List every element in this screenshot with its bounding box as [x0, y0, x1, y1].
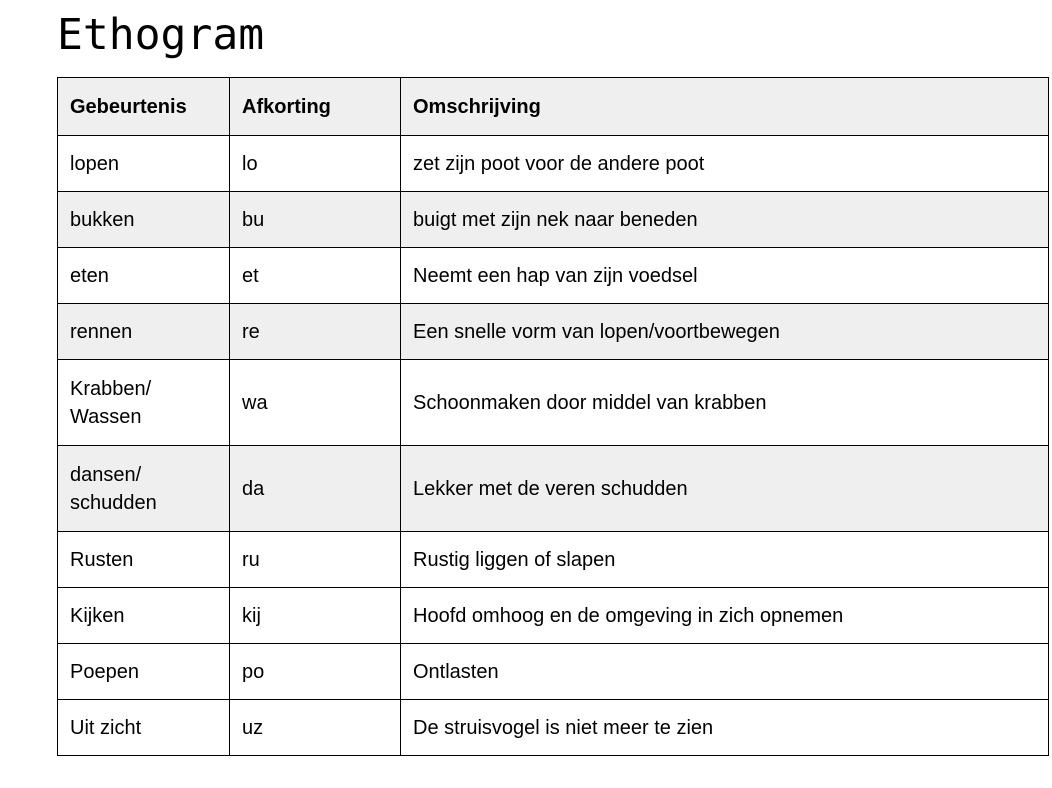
cell-text: Rustig liggen of slapen: [413, 546, 1036, 574]
cell-text: Uit zicht: [70, 714, 217, 742]
cell-omschrijving: Schoonmaken door middel van krabben: [401, 360, 1049, 446]
cell-afkorting: kij: [230, 588, 401, 644]
cell-omschrijving: Rustig liggen of slapen: [401, 532, 1049, 588]
cell-text: Een snelle vorm van lopen/voortbewegen: [413, 318, 1036, 346]
cell-text: Poepen: [70, 658, 217, 686]
table-header: Gebeurtenis Afkorting Omschrijving: [58, 78, 1049, 136]
cell-omschrijving: Hoofd omhoog en de omgeving in zich opne…: [401, 588, 1049, 644]
cell-text: De struisvogel is niet meer te zien: [413, 714, 1036, 742]
cell-afkorting: uz: [230, 700, 401, 756]
cell-text: rennen: [70, 318, 217, 346]
table-header-row: Gebeurtenis Afkorting Omschrijving: [58, 78, 1049, 136]
cell-text: eten: [70, 262, 217, 290]
cell-text: Neemt een hap van zijn voedsel: [413, 262, 1036, 290]
cell-text: zet zijn poot voor de andere poot: [413, 150, 1036, 178]
cell-text: et: [242, 262, 388, 290]
cell-text: bukken: [70, 206, 217, 234]
table-row: etenetNeemt een hap van zijn voedsel: [58, 248, 1049, 304]
cell-text-line2: schudden: [70, 489, 217, 517]
cell-afkorting: ru: [230, 532, 401, 588]
table-row: Uit zichtuzDe struisvogel is niet meer t…: [58, 700, 1049, 756]
cell-gebeurtenis: Uit zicht: [58, 700, 230, 756]
cell-text: Hoofd omhoog en de omgeving in zich opne…: [413, 602, 1036, 630]
cell-text: Krabben/: [70, 375, 217, 403]
cell-gebeurtenis: dansen/schudden: [58, 446, 230, 532]
cell-omschrijving: Een snelle vorm van lopen/voortbewegen: [401, 304, 1049, 360]
ethogram-table: Gebeurtenis Afkorting Omschrijving lopen…: [57, 77, 1049, 756]
cell-text: kij: [242, 602, 388, 630]
cell-text: dansen/: [70, 461, 217, 489]
cell-text: wa: [242, 389, 388, 417]
cell-gebeurtenis: Rusten: [58, 532, 230, 588]
table-row: PoepenpoOntlasten: [58, 644, 1049, 700]
cell-omschrijving: Neemt een hap van zijn voedsel: [401, 248, 1049, 304]
cell-text: Ontlasten: [413, 658, 1036, 686]
table-row: lopenlozet zijn poot voor de andere poot: [58, 136, 1049, 192]
table-row: dansen/schuddendaLekker met de veren sch…: [58, 446, 1049, 532]
cell-omschrijving: Ontlasten: [401, 644, 1049, 700]
cell-omschrijving: buigt met zijn nek naar beneden: [401, 192, 1049, 248]
column-header-afkorting: Afkorting: [230, 78, 401, 136]
cell-afkorting: da: [230, 446, 401, 532]
cell-gebeurtenis: rennen: [58, 304, 230, 360]
cell-afkorting: bu: [230, 192, 401, 248]
table-row: RustenruRustig liggen of slapen: [58, 532, 1049, 588]
ethogram-table-container: Gebeurtenis Afkorting Omschrijving lopen…: [57, 77, 1048, 756]
column-header-gebeurtenis: Gebeurtenis: [58, 78, 230, 136]
cell-afkorting: po: [230, 644, 401, 700]
cell-gebeurtenis: Kijken: [58, 588, 230, 644]
cell-text: ru: [242, 546, 388, 574]
page-title: Ethogram: [57, 6, 264, 64]
cell-text: bu: [242, 206, 388, 234]
cell-gebeurtenis: eten: [58, 248, 230, 304]
table-row: KijkenkijHoofd omhoog en de omgeving in …: [58, 588, 1049, 644]
cell-omschrijving: zet zijn poot voor de andere poot: [401, 136, 1049, 192]
table-row: rennenreEen snelle vorm van lopen/voortb…: [58, 304, 1049, 360]
cell-text-line2: Wassen: [70, 403, 217, 431]
cell-text: lopen: [70, 150, 217, 178]
cell-gebeurtenis: lopen: [58, 136, 230, 192]
slide-canvas: Ethogram Gebeurtenis Afkorting Omschrijv…: [0, 0, 1052, 788]
cell-afkorting: re: [230, 304, 401, 360]
cell-text: po: [242, 658, 388, 686]
column-header-omschrijving: Omschrijving: [401, 78, 1049, 136]
cell-text: Schoonmaken door middel van krabben: [413, 389, 1036, 417]
cell-afkorting: lo: [230, 136, 401, 192]
cell-gebeurtenis: bukken: [58, 192, 230, 248]
cell-afkorting: et: [230, 248, 401, 304]
cell-text: Lekker met de veren schudden: [413, 475, 1036, 503]
table-row: bukkenbubuigt met zijn nek naar beneden: [58, 192, 1049, 248]
cell-text: uz: [242, 714, 388, 742]
cell-text: lo: [242, 150, 388, 178]
cell-text: da: [242, 475, 388, 503]
cell-omschrijving: De struisvogel is niet meer te zien: [401, 700, 1049, 756]
cell-afkorting: wa: [230, 360, 401, 446]
table-body: lopenlozet zijn poot voor de andere poot…: [58, 136, 1049, 756]
cell-text: re: [242, 318, 388, 346]
table-row: Krabben/WassenwaSchoonmaken door middel …: [58, 360, 1049, 446]
cell-gebeurtenis: Krabben/Wassen: [58, 360, 230, 446]
cell-gebeurtenis: Poepen: [58, 644, 230, 700]
cell-omschrijving: Lekker met de veren schudden: [401, 446, 1049, 532]
cell-text: Rusten: [70, 546, 217, 574]
cell-text: Kijken: [70, 602, 217, 630]
cell-text: buigt met zijn nek naar beneden: [413, 206, 1036, 234]
